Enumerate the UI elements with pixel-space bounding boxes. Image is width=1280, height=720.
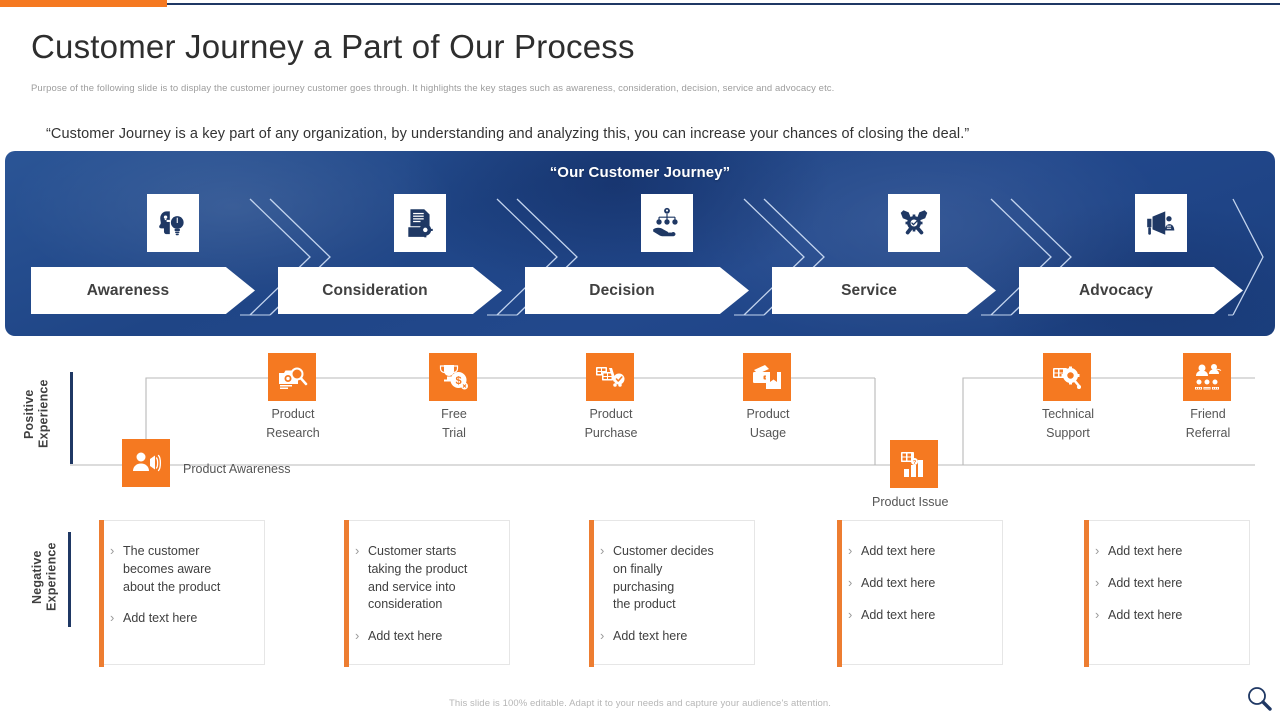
- negative-box-accent-3: [589, 520, 594, 667]
- wallet-bookmark-icon: [751, 361, 783, 393]
- list-item: Add text here: [1108, 543, 1241, 561]
- positive-node-technical-support[interactable]: [1043, 353, 1091, 401]
- page-title: Customer Journey a Part of Our Process: [31, 28, 635, 66]
- negative-list-2: Customer starts taking the product and s…: [346, 543, 509, 646]
- bar-chart-issue-icon: ?: [898, 448, 930, 480]
- orange-accent-bar: [0, 0, 167, 7]
- stage-label-advocacy: Advocacy: [1019, 282, 1213, 300]
- negative-box-accent-1: [99, 520, 104, 667]
- positive-node-product-purchase[interactable]: [586, 353, 634, 401]
- stage-label-service: Service: [772, 282, 966, 300]
- positive-label-friend-referral: Friend Referral: [1158, 405, 1258, 444]
- page-subtitle: Purpose of the following slide is to dis…: [31, 83, 834, 94]
- positive-node-product-awareness[interactable]: [122, 439, 170, 487]
- hand-hierarchy-icon: [650, 205, 684, 241]
- positive-label-product-research: Product Research: [243, 405, 343, 444]
- stage-icon-consideration: [394, 194, 446, 252]
- negative-box-accent-5: [1084, 520, 1089, 667]
- list-item: Add text here: [1108, 575, 1241, 593]
- negative-experience-label: Negative Experience: [30, 527, 59, 627]
- positive-node-free-trial[interactable]: $: [429, 353, 477, 401]
- footer-note: This slide is 100% editable. Adapt it to…: [0, 698, 1280, 709]
- list-item: Add text here: [861, 543, 994, 561]
- list-item: Add text here: [123, 610, 256, 628]
- quote-text: “Customer Journey is a key part of any o…: [46, 126, 969, 142]
- list-item: The customer becomes aware about the pro…: [123, 543, 256, 596]
- positive-label-product-usage: Product Usage: [718, 405, 818, 444]
- stage-label-awareness: Awareness: [31, 282, 225, 300]
- stage-arrow-awareness[interactable]: Awareness: [31, 267, 255, 314]
- stage-icon-advocacy: [1135, 194, 1187, 252]
- document-gear-icon: [403, 205, 437, 241]
- cart-check-icon: [594, 361, 626, 393]
- positive-label-free-trial: Free Trial: [404, 405, 504, 444]
- stage-icon-service: [888, 194, 940, 252]
- stage-label-decision: Decision: [525, 282, 719, 300]
- stage-arrow-advocacy[interactable]: Advocacy: [1019, 267, 1243, 314]
- person-megaphone-icon: [130, 447, 162, 479]
- list-item: Add text here: [1108, 607, 1241, 625]
- negative-list-4: Add text here Add text here Add text her…: [839, 543, 1002, 624]
- megaphone-people-icon: [1144, 205, 1178, 241]
- slide-canvas: Customer Journey a Part of Our Process P…: [0, 0, 1280, 720]
- stage-arrow-decision[interactable]: Decision: [525, 267, 749, 314]
- negative-box-3[interactable]: Customer decides on finally purchasing t…: [590, 520, 755, 665]
- stage-icon-decision: [641, 194, 693, 252]
- stage-icon-awareness: [147, 194, 199, 252]
- stage-label-consideration: Consideration: [278, 282, 472, 300]
- negative-list-3: Customer decides on finally purchasing t…: [591, 543, 754, 646]
- positive-node-product-usage[interactable]: [743, 353, 791, 401]
- positive-node-friend-referral[interactable]: [1183, 353, 1231, 401]
- positive-label-product-awareness: Product Awareness: [183, 462, 290, 476]
- positive-label-product-issue: Product Issue: [872, 495, 948, 509]
- negative-experience-rule: [68, 532, 71, 627]
- people-network-icon: [1191, 361, 1223, 393]
- negative-list-5: Add text here Add text here Add text her…: [1086, 543, 1249, 624]
- positive-node-product-research[interactable]: [268, 353, 316, 401]
- top-accent-rule: [0, 0, 1280, 7]
- negative-box-1[interactable]: The customer becomes aware about the pro…: [100, 520, 265, 665]
- positive-node-product-issue[interactable]: ?: [890, 440, 938, 488]
- list-item: Customer starts taking the product and s…: [368, 543, 501, 614]
- wrench-gear-icon: [897, 205, 931, 241]
- list-item: Add text here: [613, 628, 746, 646]
- negative-box-5[interactable]: Add text here Add text here Add text her…: [1085, 520, 1250, 665]
- navy-rule-line: [167, 3, 1280, 5]
- svg-text:$: $: [455, 375, 461, 387]
- negative-box-accent-2: [344, 520, 349, 667]
- negative-box-4[interactable]: Add text here Add text here Add text her…: [838, 520, 1003, 665]
- head-lightbulb-icon: [156, 205, 190, 241]
- support-gear-icon: [1051, 361, 1083, 393]
- stage-arrow-service[interactable]: Service: [772, 267, 996, 314]
- negative-box-2[interactable]: Customer starts taking the product and s…: [345, 520, 510, 665]
- magnifier-icon[interactable]: [1244, 684, 1274, 714]
- trophy-dollar-icon: $: [437, 361, 469, 393]
- list-item: Add text here: [861, 607, 994, 625]
- list-item: Add text here: [368, 628, 501, 646]
- camera-magnifier-icon: [276, 361, 308, 393]
- banner-title: “Our Customer Journey”: [5, 164, 1275, 181]
- negative-box-accent-4: [837, 520, 842, 667]
- stage-arrow-consideration[interactable]: Consideration: [278, 267, 502, 314]
- positive-label-technical-support: Technical Support: [1018, 405, 1118, 444]
- list-item: Add text here: [861, 575, 994, 593]
- positive-label-product-purchase: Product Purchase: [561, 405, 661, 444]
- list-item: Customer decides on finally purchasing t…: [613, 543, 746, 614]
- negative-list-1: The customer becomes aware about the pro…: [101, 543, 264, 628]
